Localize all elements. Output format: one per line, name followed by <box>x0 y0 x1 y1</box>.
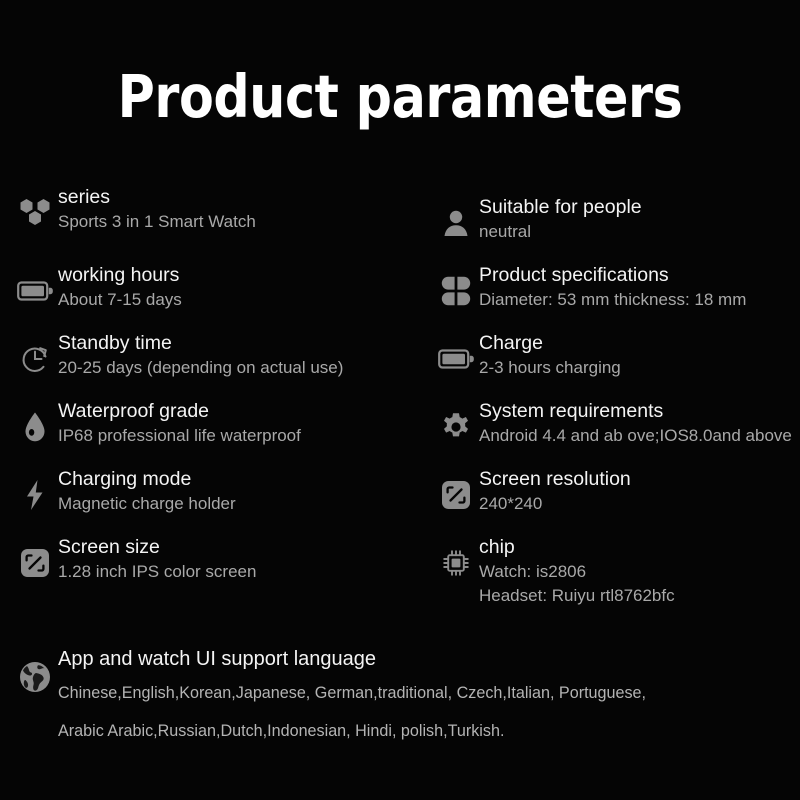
water-drop-icon <box>12 404 58 450</box>
product-parameters-page: Product parameters series Sports 3 in 1 … <box>0 0 800 800</box>
spec-value-secondary: Headset: Ruiyu rtl8762bfc <box>479 584 675 608</box>
language-support-section: App and watch UI support language Chines… <box>12 640 792 750</box>
language-title: App and watch UI support language <box>58 644 677 674</box>
spec-item-chip: chip Watch: is2806 Headset: Ruiyu rtl876… <box>425 532 800 590</box>
spec-value: Android 4.4 and ab ove;IOS8.0and above <box>479 424 792 448</box>
spec-label: Screen resolution <box>479 466 631 492</box>
spec-text: Screen size 1.28 inch IPS color screen <box>58 532 256 584</box>
spec-text: Product specifications Diameter: 53 mm t… <box>479 260 746 312</box>
four-petal-icon <box>433 268 479 314</box>
battery-icon <box>433 336 479 382</box>
spec-text: Standby time 20-25 days (depending on ac… <box>58 328 343 380</box>
spec-label: Waterproof grade <box>58 398 301 424</box>
spec-grid: series Sports 3 in 1 Smart Watch Suitabl… <box>0 182 800 590</box>
spec-value: 2-3 hours charging <box>479 356 621 380</box>
screen-size-icon <box>12 540 58 586</box>
globe-icon <box>12 654 58 700</box>
spec-item-working-hours: working hours About 7-15 days <box>0 260 425 318</box>
spec-text: Waterproof grade IP68 professional life … <box>58 396 301 448</box>
spec-value: 1.28 inch IPS color screen <box>58 560 256 584</box>
spec-value: 20-25 days (depending on actual use) <box>58 356 343 380</box>
spec-value: IP68 professional life waterproof <box>58 424 301 448</box>
page-title: Product parameters <box>56 62 744 131</box>
battery-icon <box>12 268 58 314</box>
spec-label: Screen size <box>58 534 256 560</box>
spec-text: Suitable for people neutral <box>479 192 642 244</box>
spec-item-screen-size: Screen size 1.28 inch IPS color screen <box>0 532 425 590</box>
spec-item-charge: Charge 2-3 hours charging <box>425 328 800 386</box>
spec-text: Screen resolution 240*240 <box>479 464 631 516</box>
spec-value: Magnetic charge holder <box>58 492 236 516</box>
spec-text: chip Watch: is2806 Headset: Ruiyu rtl876… <box>479 532 675 608</box>
spec-item-series: series Sports 3 in 1 Smart Watch <box>0 182 425 250</box>
spec-label: working hours <box>58 262 182 288</box>
spec-value: About 7-15 days <box>58 288 182 312</box>
spec-text: series Sports 3 in 1 Smart Watch <box>58 182 256 234</box>
spec-label: Product specifications <box>479 262 746 288</box>
language-text: App and watch UI support language Chines… <box>58 640 677 750</box>
spec-text: working hours About 7-15 days <box>58 260 182 312</box>
spec-item-suitable-for-people: Suitable for people neutral <box>425 192 800 250</box>
spec-item-charging-mode: Charging mode Magnetic charge holder <box>0 464 425 522</box>
spec-label: series <box>58 184 256 210</box>
spec-text: System requirements Android 4.4 and ab o… <box>479 396 792 448</box>
spec-label: System requirements <box>479 398 792 424</box>
language-line-1: Chinese,English,Korean,Japanese, German,… <box>58 674 646 712</box>
hexagon-cluster-icon <box>12 190 58 236</box>
spec-text: Charging mode Magnetic charge holder <box>58 464 236 516</box>
spec-label: Charge <box>479 330 621 356</box>
spec-value: Sports 3 in 1 Smart Watch <box>58 210 256 234</box>
spec-label: Standby time <box>58 330 343 356</box>
spec-value: Diameter: 53 mm thickness: 18 mm <box>479 288 746 312</box>
gear-icon <box>433 404 479 450</box>
spec-item-waterproof-grade: Waterproof grade IP68 professional life … <box>0 396 425 454</box>
spec-value: neutral <box>479 220 642 244</box>
spec-item-standby-time: Standby time 20-25 days (depending on ac… <box>0 328 425 386</box>
standby-clock-icon <box>12 336 58 382</box>
spec-value: Watch: is2806 <box>479 560 675 584</box>
chip-icon <box>433 540 479 586</box>
spec-text: Charge 2-3 hours charging <box>479 328 621 380</box>
person-icon <box>433 200 479 246</box>
spec-label: Suitable for people <box>479 194 642 220</box>
language-line-2: Arabic Arabic,Russian,Dutch,Indonesian, … <box>58 712 646 750</box>
lightning-bolt-icon <box>12 472 58 518</box>
spec-item-system-requirements: System requirements Android 4.4 and ab o… <box>425 396 800 454</box>
spec-label: chip <box>479 534 675 560</box>
spec-label: Charging mode <box>58 466 236 492</box>
screen-resolution-icon <box>433 472 479 518</box>
spec-item-product-specifications: Product specifications Diameter: 53 mm t… <box>425 260 800 318</box>
spec-item-screen-resolution: Screen resolution 240*240 <box>425 464 800 522</box>
spec-value: 240*240 <box>479 492 631 516</box>
